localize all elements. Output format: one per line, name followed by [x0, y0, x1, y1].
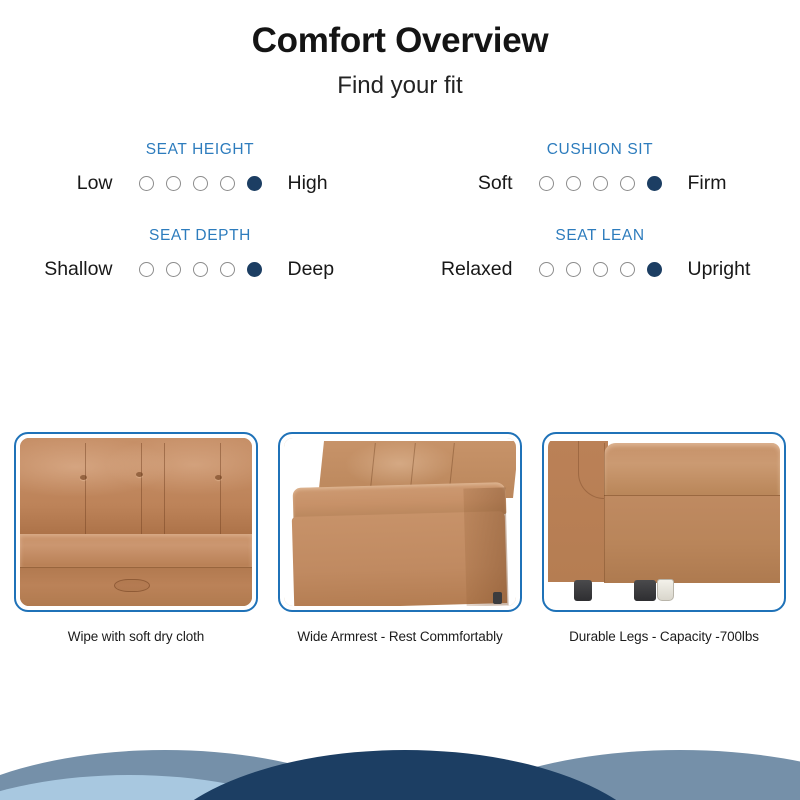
feature-cards: Wipe with soft dry cloth Wide Armrest - … — [0, 432, 800, 644]
scale-dot-seat-depth-5[interactable] — [247, 262, 262, 277]
caster-wheel-icon — [657, 579, 674, 601]
seam-icon — [164, 443, 166, 534]
scale-seat-depth: SEAT DEPTH Shallow Deep — [0, 227, 400, 281]
scale-title-cushion-sit: CUSHION SIT — [547, 141, 654, 159]
scale-dot-seat-lean-2[interactable] — [566, 262, 581, 277]
footer-arcs — [0, 710, 800, 800]
seat-top-shape — [604, 443, 780, 495]
page-title: Comfort Overview — [0, 22, 800, 61]
tuft-button-icon — [215, 475, 222, 480]
seam-icon — [220, 443, 222, 534]
sofa-leg-icon — [574, 580, 592, 601]
page-subtitle: Find your fit — [0, 73, 800, 99]
scale-dot-seat-depth-3[interactable] — [193, 262, 208, 277]
scale-right-label-seat-depth: Deep — [288, 258, 384, 281]
feature-card-armrest: Wide Armrest - Rest Commfortably — [278, 432, 522, 644]
scale-left-label-seat-depth: Shallow — [17, 258, 113, 281]
scale-dot-cushion-sit-1[interactable] — [539, 176, 554, 191]
scale-row-seat-height: Low High — [41, 172, 360, 195]
scale-dot-cushion-sit-2[interactable] — [566, 176, 581, 191]
photo-frame-armrest — [278, 432, 522, 612]
scale-dot-seat-lean-1[interactable] — [539, 262, 554, 277]
scale-dots-seat-lean[interactable] — [539, 262, 662, 277]
scale-cushion-sit: CUSHION SIT Soft Firm — [400, 141, 800, 195]
scale-title-seat-depth: SEAT DEPTH — [149, 227, 251, 245]
feature-card-legs: Durable Legs - Capacity -700lbs — [542, 432, 786, 644]
scale-seat-height: SEAT HEIGHT Low High — [0, 141, 400, 195]
comfort-scales: SEAT HEIGHT Low High CUSHION SIT Soft Fi… — [0, 141, 800, 281]
scale-right-label-seat-lean: Upright — [688, 258, 784, 281]
scale-left-label-seat-height: Low — [41, 172, 113, 195]
armrest-edge-shadow — [463, 488, 508, 606]
scale-right-label-cushion-sit: Firm — [688, 172, 750, 195]
photo-frame-legs — [542, 432, 786, 612]
scale-dot-seat-depth-2[interactable] — [166, 262, 181, 277]
sofa-legs-photo — [548, 438, 780, 606]
scale-dots-seat-depth[interactable] — [139, 262, 262, 277]
photo-frame-care — [14, 432, 258, 612]
seat-cushion-shape — [20, 534, 252, 568]
armrest-photo — [284, 438, 516, 606]
scale-dot-seat-depth-4[interactable] — [220, 262, 235, 277]
pull-handle-icon — [114, 579, 150, 592]
sofa-skirt-shape — [604, 495, 780, 583]
page-header: Comfort Overview Find your fit — [0, 0, 800, 99]
scale-dot-seat-lean-4[interactable] — [620, 262, 635, 277]
scale-dot-seat-lean-5[interactable] — [647, 262, 662, 277]
scale-dot-seat-height-5[interactable] — [247, 176, 262, 191]
scale-row-seat-lean: Relaxed Upright — [417, 258, 784, 281]
seam-icon — [85, 443, 87, 534]
scale-left-label-seat-lean: Relaxed — [417, 258, 513, 281]
scale-seat-lean: SEAT LEAN Relaxed Upright — [400, 227, 800, 281]
scale-row-cushion-sit: Soft Firm — [451, 172, 750, 195]
sofa-seat-photo — [20, 438, 252, 606]
sofa-leg-icon — [634, 580, 656, 601]
seam-icon — [141, 443, 143, 534]
scale-row-seat-depth: Shallow Deep — [17, 258, 384, 281]
scale-left-label-cushion-sit: Soft — [451, 172, 513, 195]
scale-right-label-seat-height: High — [288, 172, 360, 195]
seam-icon — [604, 443, 606, 582]
scale-dot-seat-depth-1[interactable] — [139, 262, 154, 277]
scale-dot-seat-height-3[interactable] — [193, 176, 208, 191]
feature-card-care: Wipe with soft dry cloth — [14, 432, 258, 644]
scale-dot-seat-height-2[interactable] — [166, 176, 181, 191]
feature-caption-legs: Durable Legs - Capacity -700lbs — [542, 629, 786, 644]
backrest-shape — [20, 438, 252, 534]
scale-dot-seat-height-4[interactable] — [220, 176, 235, 191]
scale-dot-seat-height-1[interactable] — [139, 176, 154, 191]
scale-title-seat-lean: SEAT LEAN — [555, 227, 644, 245]
scale-dot-cushion-sit-3[interactable] — [593, 176, 608, 191]
scale-title-seat-height: SEAT HEIGHT — [146, 141, 255, 159]
footer-decoration — [0, 710, 800, 800]
scale-dots-seat-height[interactable] — [139, 176, 262, 191]
feature-caption-care: Wipe with soft dry cloth — [14, 629, 258, 644]
scale-dot-cushion-sit-4[interactable] — [620, 176, 635, 191]
sofa-leg-icon — [493, 592, 502, 604]
feature-caption-armrest: Wide Armrest - Rest Commfortably — [278, 629, 522, 644]
scale-dot-seat-lean-3[interactable] — [593, 262, 608, 277]
scale-dots-cushion-sit[interactable] — [539, 176, 662, 191]
scale-dot-cushion-sit-5[interactable] — [647, 176, 662, 191]
tuft-button-icon — [136, 472, 143, 477]
